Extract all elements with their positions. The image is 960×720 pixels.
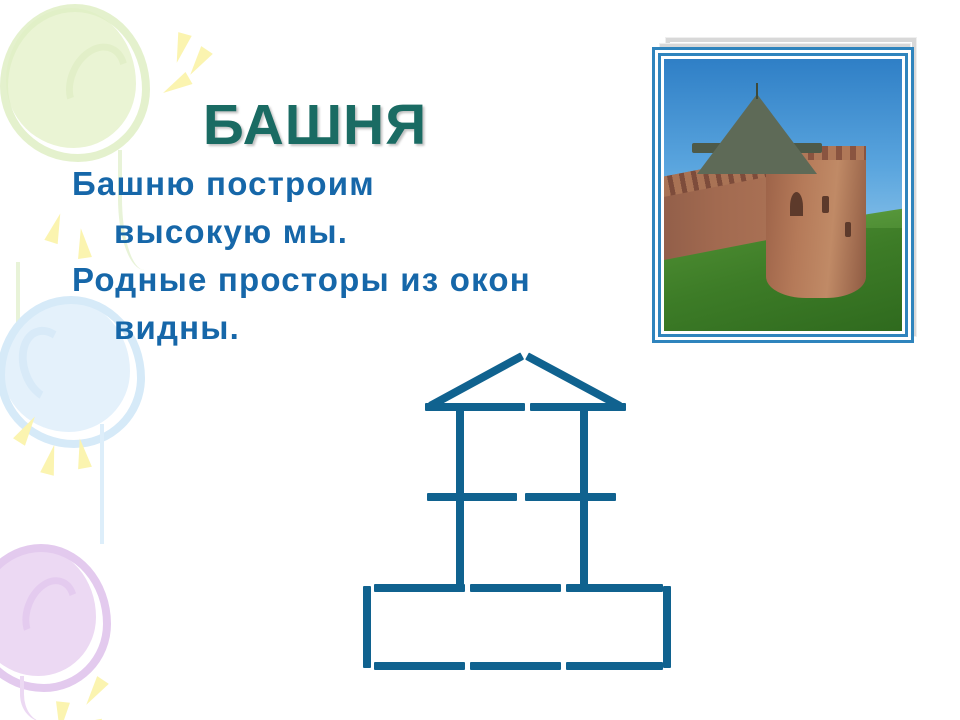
base-top-beam-3 — [566, 584, 663, 592]
middle-beam-left — [427, 493, 517, 501]
middle-beam-right — [525, 493, 616, 501]
base-bottom-beam-2 — [470, 662, 561, 670]
base-bottom-beam-3 — [566, 662, 663, 670]
top-beam-right — [530, 403, 626, 411]
base-top-beam-2 — [470, 584, 561, 592]
counting-sticks-tower-diagram — [0, 0, 960, 720]
base-right-post — [663, 586, 671, 668]
base-left-post — [363, 586, 371, 668]
base-top-beam-1 — [374, 584, 465, 592]
right-post-upper — [580, 405, 588, 496]
base-bottom-beam-1 — [374, 662, 465, 670]
roof-right-diagonal — [525, 352, 622, 409]
roof-left-diagonal — [428, 352, 524, 409]
top-beam-left — [425, 403, 525, 411]
slide-canvas: БАШНЯ Башню построим высокую мы. Родные … — [0, 0, 960, 720]
right-post-lower — [580, 500, 588, 590]
